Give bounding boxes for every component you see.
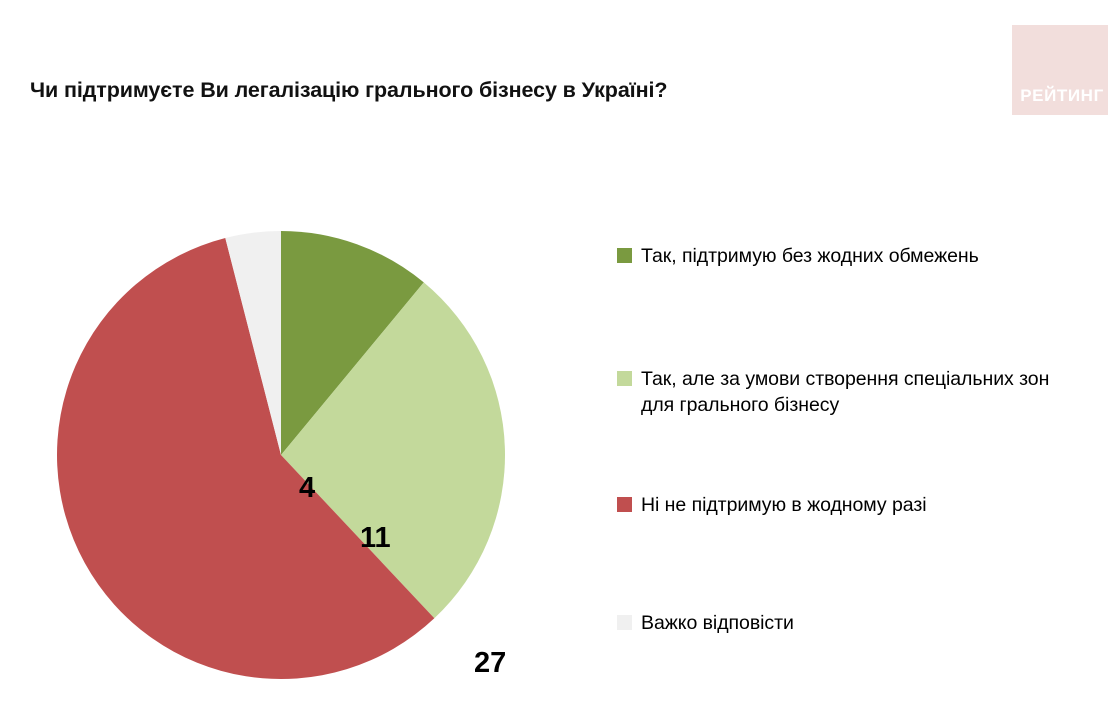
legend-swatch-icon [617, 248, 632, 263]
pie-slice-label: 4 [299, 474, 315, 503]
pie-slice-label: 11 [360, 524, 391, 553]
legend-item-label: Важко відповісти [641, 610, 794, 636]
chart-page: РЕЙТИНГ Чи підтримуєте Ви легалізацію гр… [0, 0, 1108, 703]
legend-item-label: Так, підтримую без жодних обмежень [641, 243, 979, 269]
rating-logo-text: РЕЙТИНГ [1016, 86, 1108, 106]
legend-swatch-icon [617, 615, 632, 630]
legend-swatch-icon [617, 497, 632, 512]
page-title: Чи підтримуєте Ви легалізацію грального … [30, 78, 667, 103]
pie-chart: 11 27 58 4 [56, 230, 506, 680]
legend-swatch-icon [617, 371, 632, 386]
legend-item[interactable]: Важко відповісти [617, 610, 1087, 636]
legend-item-label: Так, але за умови створення спеціальних … [641, 366, 1053, 418]
legend-item-label: Ні не підтримую в жодному разі [641, 492, 927, 518]
chart-legend: Так, підтримую без жодних обмежень Так, … [617, 228, 1087, 658]
legend-item[interactable]: Так, підтримую без жодних обмежень [617, 243, 1087, 269]
pie-slice-label: 27 [474, 649, 506, 678]
legend-item[interactable]: Ні не підтримую в жодному разі [617, 492, 1087, 518]
legend-item[interactable]: Так, але за умови створення спеціальних … [617, 366, 1087, 418]
pie-chart-svg [56, 230, 506, 680]
